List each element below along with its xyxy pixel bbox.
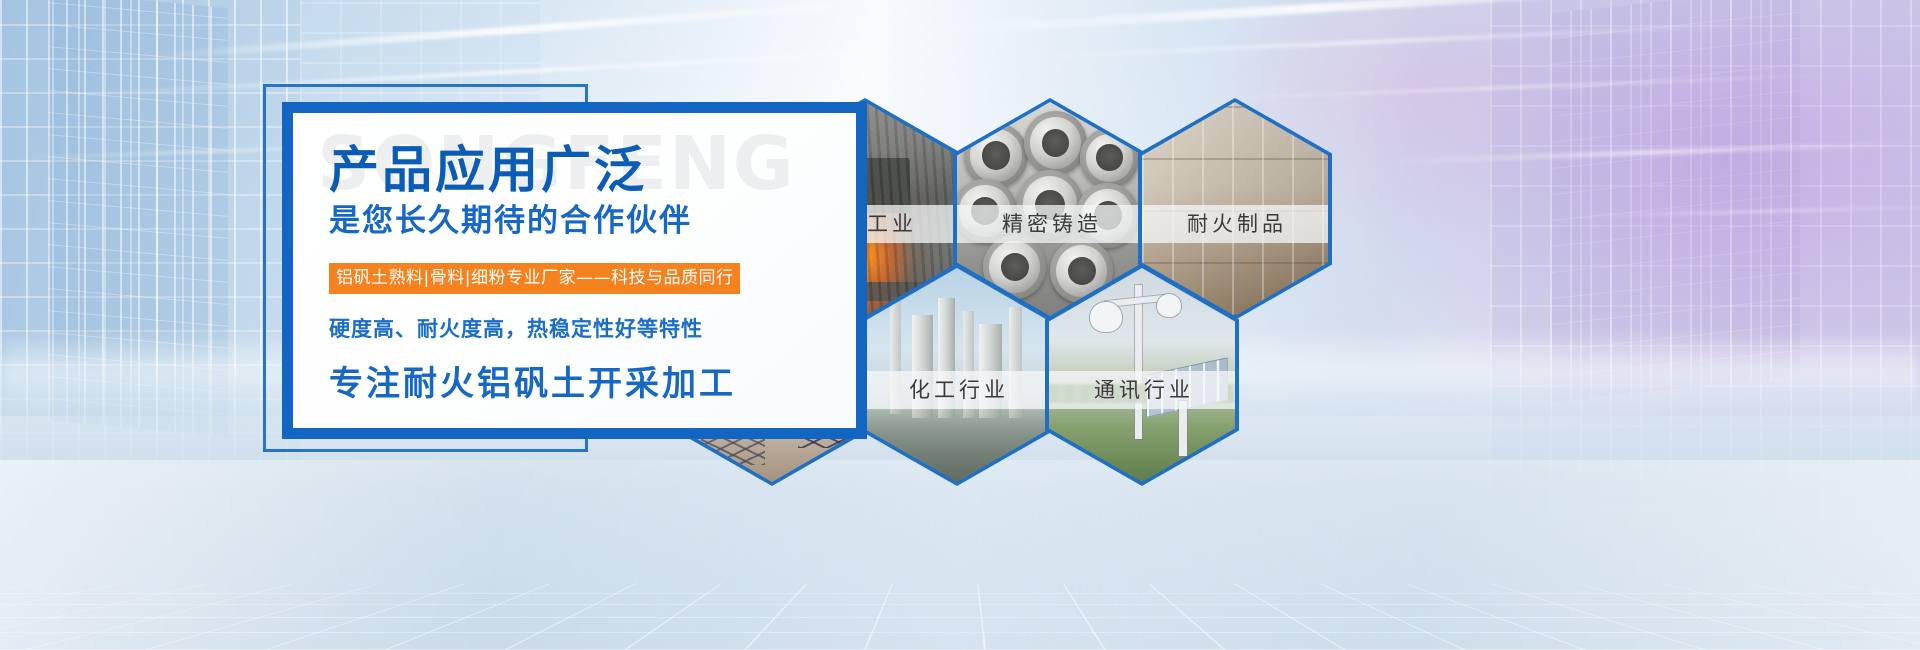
slogan: 专注耐火铝矾土开采加工 (329, 367, 736, 401)
hexagon-label: 精密铸造 (957, 205, 1143, 243)
hexagon-label: 化工行业 (864, 371, 1050, 409)
headline: 产品应用广泛 (329, 145, 647, 195)
promo-banner: 炼铝工业 精密铸造 耐火制品 (0, 0, 1920, 650)
feature-line: 硬度高、耐火度高，热稳定性好等特性 (329, 319, 703, 340)
subheadline: 是您长久期待的合作伙伴 (329, 205, 692, 236)
tagline-bar: 铝矾土熟料|骨料|细粉专业厂家——科技与品质同行 (329, 263, 740, 294)
text-panel-inner: SONGFENG 产品应用广泛 是您长久期待的合作伙伴 铝矾土熟料|骨料|细粉专… (293, 113, 856, 428)
hexagon-label: 耐火制品 (1142, 205, 1328, 243)
hexagon-label: 通讯行业 (1049, 371, 1235, 409)
text-panel: SONGFENG 产品应用广泛 是您长久期待的合作伙伴 铝矾土熟料|骨料|细粉专… (282, 102, 867, 439)
